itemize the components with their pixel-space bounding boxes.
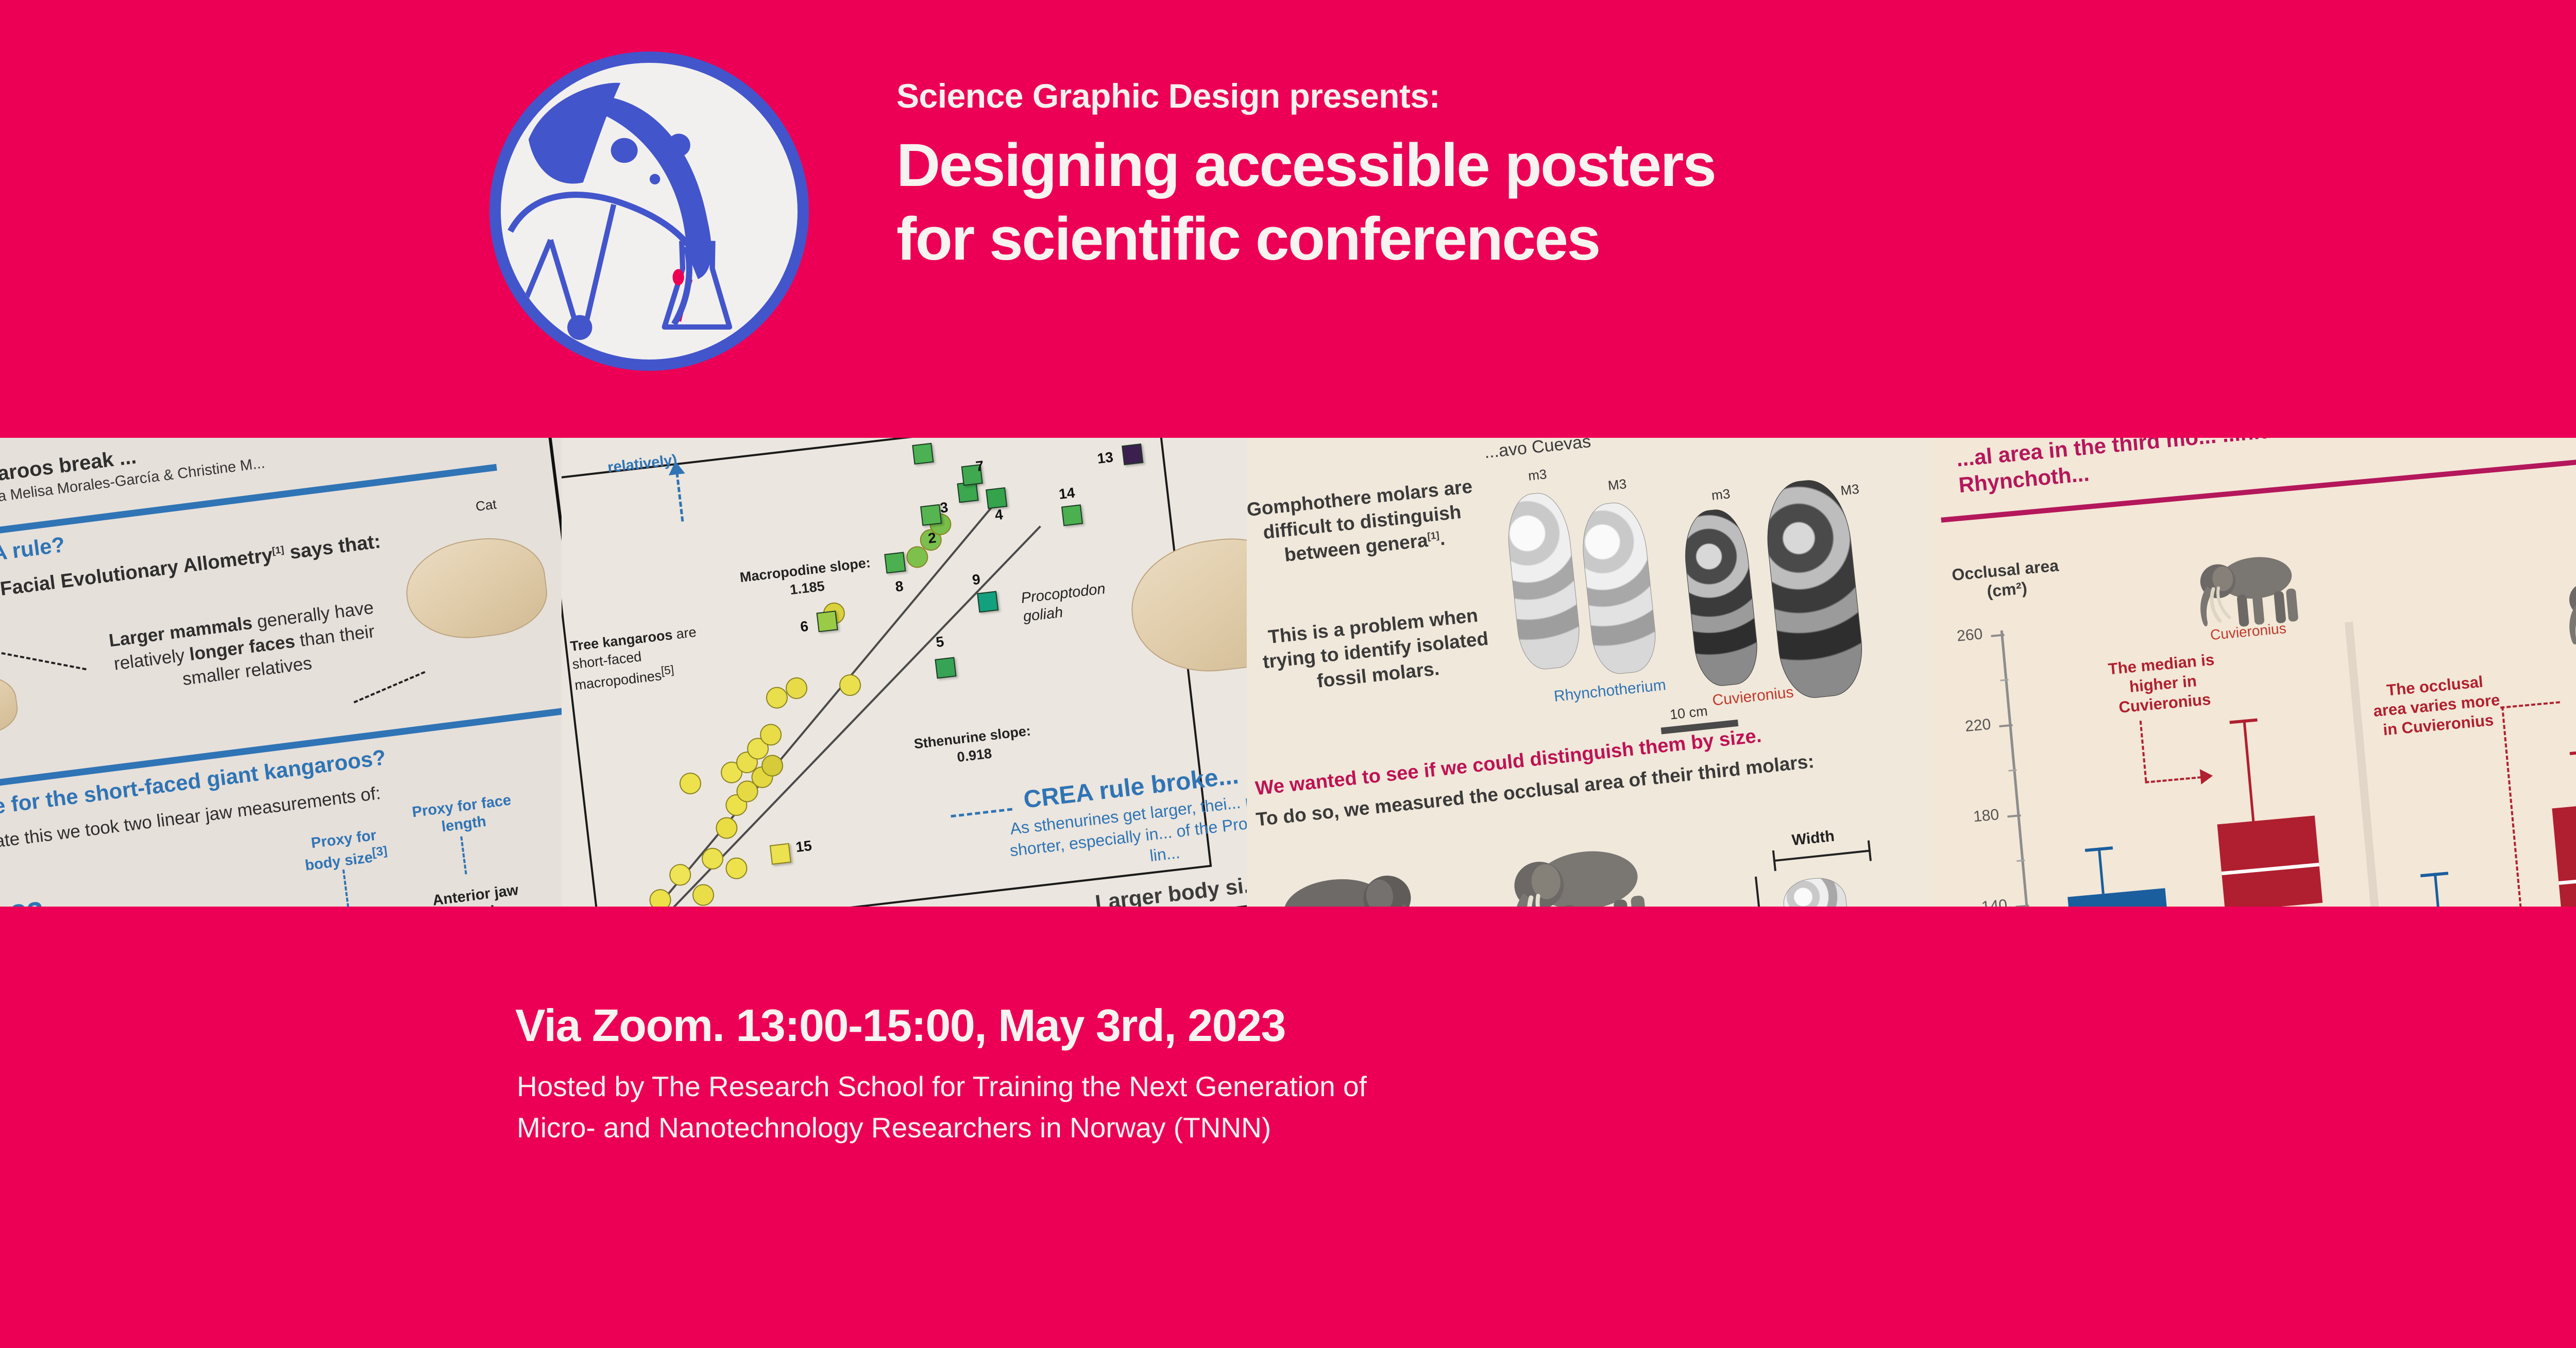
- data-point: [920, 504, 942, 526]
- poster4-annotation2-leader-h: [2500, 701, 2560, 708]
- poster4-annotation1-arrowhead-icon: [2200, 768, 2214, 784]
- poster4-axis-title: Occlusal area (cm²): [1945, 555, 2067, 605]
- boxplot-whisker: [2098, 847, 2105, 894]
- poster3-molar-image-1: [1503, 490, 1583, 672]
- data-point-label: 4: [994, 506, 1004, 524]
- poster4-annotation1-leader-h: [2145, 776, 2201, 783]
- eyebrow-text: Science Graphic Design presents:: [896, 77, 2494, 115]
- page-title: Designing accessible posters for scienti…: [896, 132, 2494, 274]
- event-host: Hosted by The Research School for Traini…: [517, 1066, 2217, 1149]
- event-host-line-2: Micro- and Nanotechnology Researchers in…: [517, 1107, 2217, 1149]
- poster1-arrow-right-dashed: [353, 671, 425, 704]
- poster2-macropodine-slope-value: 1.185: [789, 578, 826, 598]
- event-datetime: Via Zoom. 13:00-15:00, May 3rd, 2023: [515, 999, 1285, 1052]
- poster1-proxy-face-length: Proxy for face length: [410, 791, 516, 840]
- poster3-width-cap-right: [1868, 840, 1872, 861]
- poster2-tree-note-ref: [5]: [660, 663, 675, 677]
- data-point: [884, 552, 906, 573]
- boxplot-box: [2067, 888, 2173, 907]
- poster3-molar-image-3: [1680, 507, 1761, 689]
- poster4-panel-divider: [2345, 622, 2385, 907]
- poster-collage-strip: ...ngaroos break ... ...Nuria Melisa Mor…: [0, 438, 2576, 907]
- title-line-1: Designing accessible posters: [896, 131, 1715, 199]
- boxplot-whisker: [2243, 720, 2255, 823]
- poster3-width-label: Width: [1791, 828, 1835, 849]
- poster1-species-count: 33: [9, 895, 46, 907]
- poster3-para1-ref: [1]: [1427, 530, 1439, 542]
- poster1-proxy-body-label: Proxy for body size: [304, 827, 377, 874]
- poster1-vertical-axis: [546, 438, 562, 684]
- banner-footer: Via Zoom. 13:00-15:00, May 3rd, 2023 Hos…: [0, 907, 2576, 1348]
- poster-thumbnail-gomphothere-molars[interactable]: ...avo Cuevas Gomphothere molars are dif…: [1247, 438, 1932, 907]
- data-point: [817, 610, 838, 632]
- poster3-molar-image-4: [1761, 476, 1867, 702]
- poster2-sthenurine-slope-value: 0.918: [956, 746, 993, 765]
- poster1-body-text: Larger mammals generally have relatively…: [94, 594, 395, 702]
- banner-header: Science Graphic Design presents: Designi…: [0, 0, 2576, 438]
- poster1-crea-ref: [1]: [272, 544, 285, 557]
- boxplot-box: [2552, 799, 2576, 907]
- poster1-label-anterior-jaw: Anterior jaw length: [421, 880, 533, 907]
- poster-thumbnail-crea-scatterplot[interactable]: relatively): [562, 438, 1247, 907]
- poster2-yaxis-arrowhead-icon: [667, 460, 685, 475]
- poster3-height-measure-bar: [1755, 877, 1764, 907]
- poster4-y-axis: [2001, 630, 2037, 907]
- data-point-label: 14: [1058, 485, 1076, 503]
- boxplot-box: [2217, 815, 2323, 907]
- poster4-y-tick-label: 140: [1950, 896, 2008, 907]
- boxplot-whisker: [2434, 873, 2441, 907]
- poster3-para1-tail: .: [1438, 527, 1446, 549]
- poster1-proxy-body-ref: [3]: [371, 844, 388, 859]
- data-point: [986, 487, 1007, 509]
- data-point: [935, 657, 956, 678]
- poster4-y-tick-label: 180: [1942, 806, 2000, 829]
- poster1-question-1: ...REA rule?: [0, 532, 66, 572]
- poster3-molar-label-1: m3: [1528, 466, 1548, 484]
- data-point: [770, 843, 791, 865]
- poster3-molar-image-2: [1578, 500, 1659, 676]
- title-line-2: for scientific conferences: [896, 206, 2494, 273]
- data-point: [1122, 443, 1143, 465]
- poster3-paragraph-1: Gomphothere molars are difficult to dist…: [1247, 473, 1489, 571]
- poster1-arrow-left-dashed: [0, 651, 87, 671]
- poster3-molar-label-3: m3: [1711, 486, 1731, 504]
- logo-artwork-icon: [501, 63, 798, 360]
- poster4-elephant-cuvieronius-2: [2556, 561, 2576, 657]
- data-point: [1061, 504, 1083, 526]
- event-host-line-1: Hosted by The Research School for Traini…: [517, 1066, 2217, 1107]
- data-point-label: 15: [795, 838, 813, 856]
- poster3-paragraph-2: This is a problem when trying to identif…: [1247, 601, 1507, 701]
- poster3-molar-measured: [1781, 875, 1852, 907]
- poster3-molar-label-2: M3: [1607, 476, 1627, 494]
- poster1-cat-label: Cat: [474, 496, 497, 515]
- science-graphic-design-logo: [489, 52, 809, 371]
- data-point: [977, 591, 998, 612]
- poster3-genus-cuvieronius: Cuvieronius: [1711, 684, 1794, 709]
- poster3-author-fragment: ...avo Cuevas: [1483, 438, 1592, 463]
- boxplot-cap: [2570, 749, 2576, 755]
- event-banner: Science Graphic Design presents: Designi…: [0, 0, 2576, 1348]
- poster4-annotation2-leader-v: [2501, 706, 2530, 907]
- data-point: [912, 443, 934, 465]
- poster3-width-measure-bar: [1773, 849, 1871, 862]
- poster3-elephant-illustration-2: [1495, 832, 1676, 907]
- poster3-genus-rhynchotherium: Rhynchotherium: [1553, 676, 1667, 706]
- poster1-skull-small: [0, 672, 21, 739]
- poster-thumbnail-occlusal-boxplots[interactable]: ...al area in the third mo... ...nius te…: [1932, 438, 2576, 907]
- poster1-arrow-down-2-icon: [460, 837, 467, 875]
- poster-thumbnail-kangaroo-crea[interactable]: ...ngaroos break ... ...Nuria Melisa Mor…: [0, 438, 562, 907]
- poster1-arrow-down-1-icon: [343, 869, 349, 907]
- poster4-annotation-variance: The occlusal area varies more in Cuviero…: [2367, 670, 2506, 741]
- poster4-annotation-median: The median is higher in Cuvieronius: [2096, 649, 2230, 719]
- poster1-proxy-body-size: Proxy for body size[3]: [292, 824, 399, 876]
- poster4-y-tick-label: 260: [1932, 625, 1984, 648]
- poster4-y-tick-label: 220: [1934, 716, 1992, 739]
- header-text-block: Science Graphic Design presents: Designi…: [896, 77, 2494, 273]
- poster1-crea-tail: says that:: [283, 531, 382, 564]
- poster3-scale-label: 10 cm: [1669, 703, 1708, 723]
- logo-container: [489, 52, 809, 371]
- poster1-skull-cat: [400, 531, 552, 646]
- data-point-label: 13: [1096, 449, 1114, 467]
- poster3-para1-text: Gomphothere molars are difficult to dist…: [1247, 475, 1473, 565]
- poster3-molar-label-4: M3: [1840, 481, 1860, 499]
- poster4-annotation1-leader-v: [2140, 721, 2147, 781]
- poster3-elephant-illustration-1: [1254, 857, 1435, 907]
